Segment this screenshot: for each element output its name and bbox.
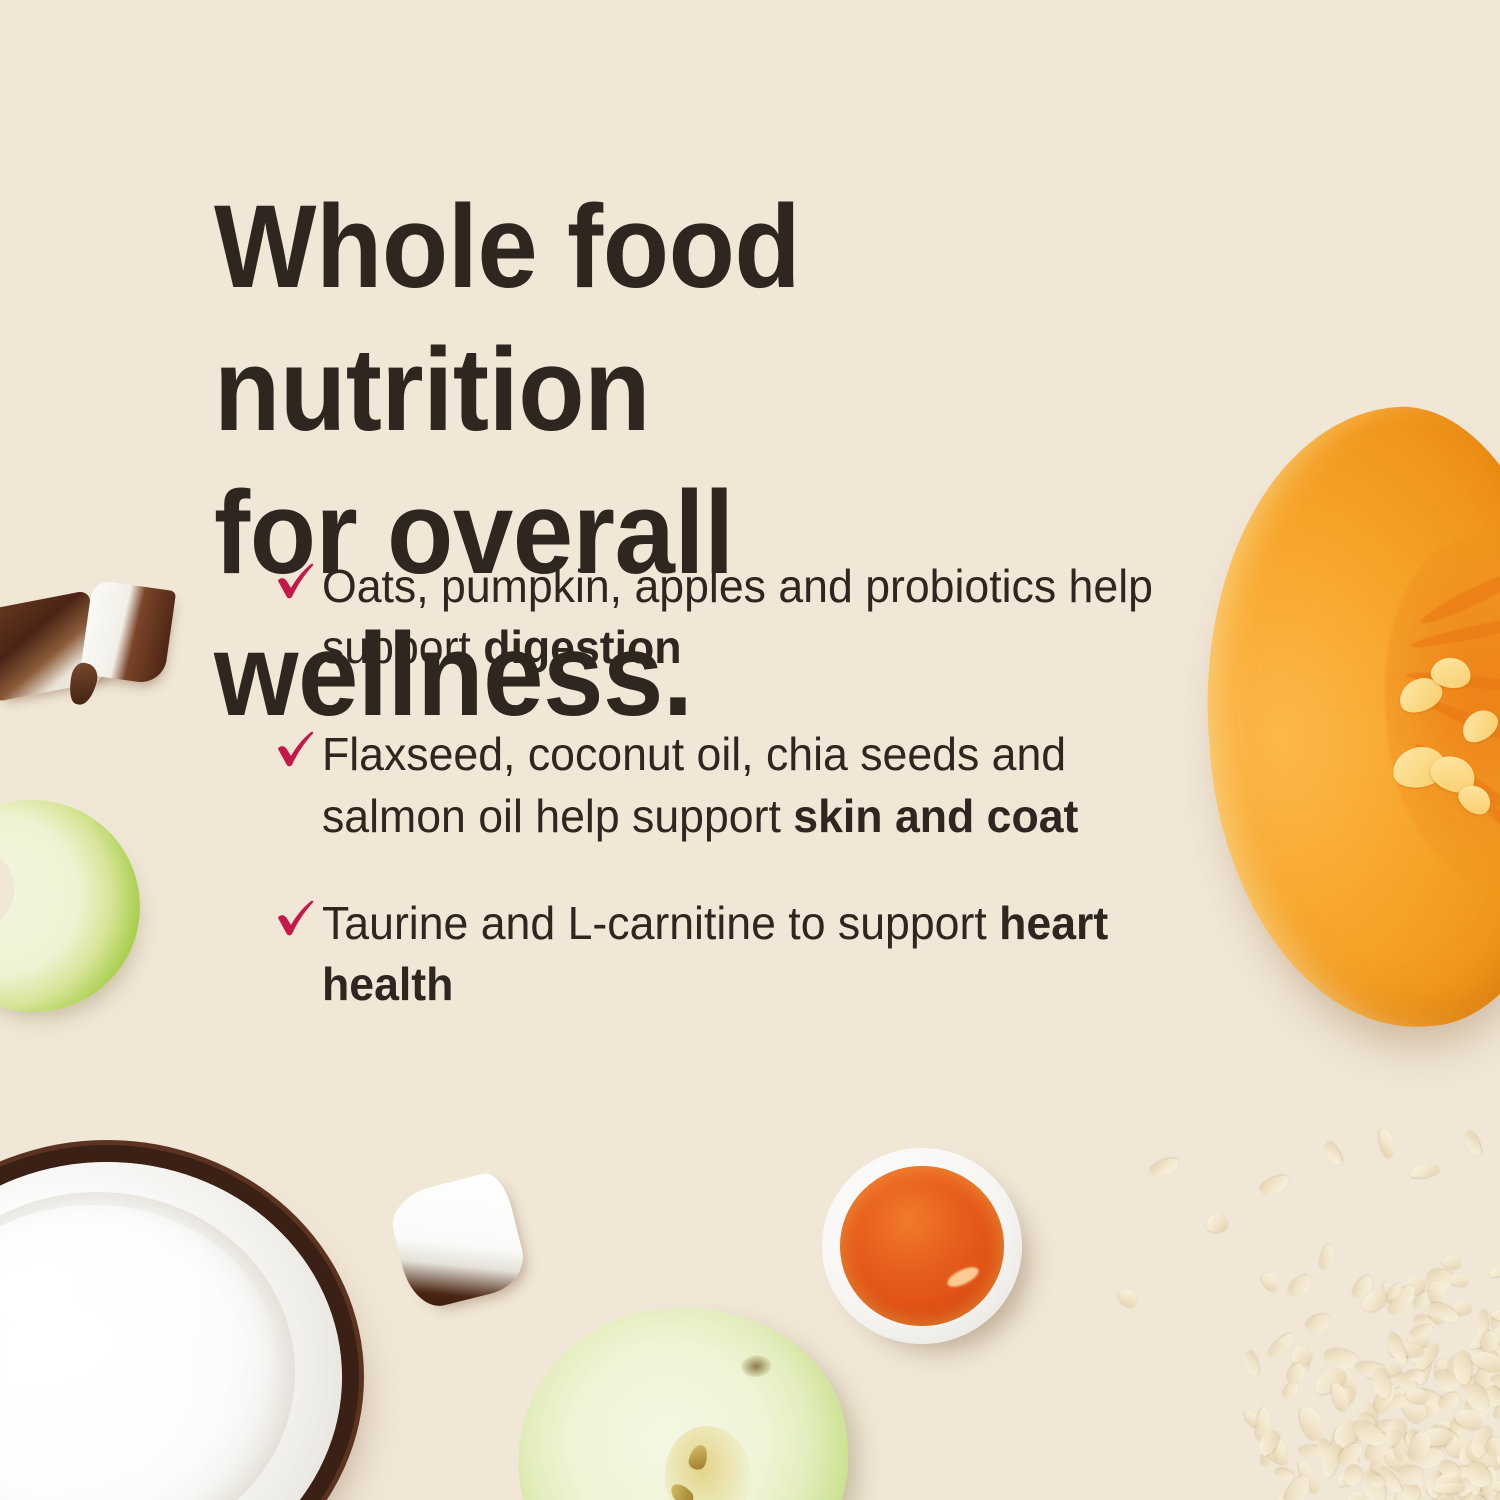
benefit-text: Taurine and L-carnitine to support heart… [322, 893, 1209, 1015]
check-icon [276, 899, 322, 937]
check-icon [276, 730, 322, 768]
benefit-text: Oats, pumpkin, apples and probiotics hel… [322, 556, 1209, 678]
headline-line-1: Whole food nutrition [214, 181, 800, 456]
promo-banner: Whole food nutritionfor overall wellness… [0, 0, 1500, 1500]
benefit-text-lead: Taurine and L-carnitine to support [322, 897, 999, 949]
benefit-text-emphasis: digestion [483, 621, 681, 673]
benefit-item: Flaxseed, coconut oil, chia seeds and sa… [276, 724, 1236, 846]
benefit-text-lead: Oats, pumpkin, apples and probiotics hel… [322, 560, 1153, 673]
benefit-text: Flaxseed, coconut oil, chia seeds and sa… [322, 724, 1209, 846]
content-layer: Whole food nutritionfor overall wellness… [0, 0, 1500, 1500]
benefit-item: Taurine and L-carnitine to support heart… [276, 893, 1236, 1015]
benefit-text-emphasis: skin and coat [793, 790, 1078, 842]
check-icon [276, 562, 322, 600]
benefit-item: Oats, pumpkin, apples and probiotics hel… [276, 556, 1236, 678]
benefits-list: Oats, pumpkin, apples and probiotics hel… [276, 556, 1236, 1015]
